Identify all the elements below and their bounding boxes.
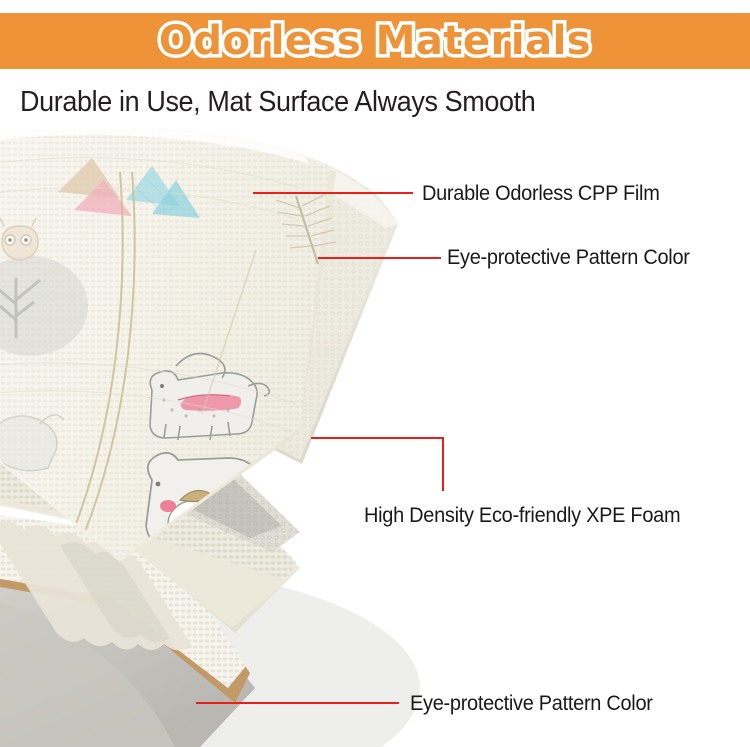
subtitle-text: Durable in Use, Mat Surface Always Smoot… bbox=[20, 86, 535, 119]
callout-line-3-vertical bbox=[442, 437, 444, 491]
callout-line-1 bbox=[253, 192, 413, 194]
callout-line-4 bbox=[196, 702, 399, 704]
callout-label-eye-protective-pattern-color-bottom: Eye-protective Pattern Color bbox=[410, 692, 653, 716]
callout-line-3-horizontal bbox=[311, 437, 444, 439]
header-banner: Odorless Materials bbox=[0, 13, 750, 69]
page-title: Odorless Materials bbox=[159, 21, 591, 61]
infographic-page: Odorless Materials Durable in Use, Mat S… bbox=[0, 0, 750, 747]
callout-label-high-density-eco-friendly-xpe-foam: High Density Eco-friendly XPE Foam bbox=[364, 504, 680, 528]
callout-line-2 bbox=[318, 257, 441, 259]
callout-label-durable-odorless-cpp-film: Durable Odorless CPP Film bbox=[422, 182, 660, 206]
callout-label-eye-protective-pattern-color-top: Eye-protective Pattern Color bbox=[447, 246, 690, 270]
